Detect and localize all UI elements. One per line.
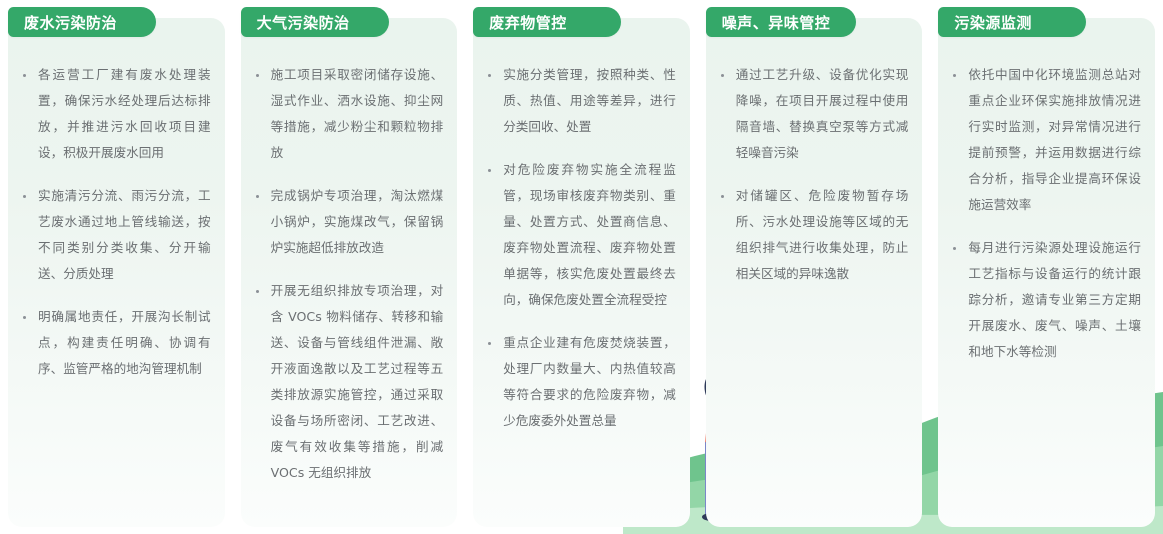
card-title: 废弃物管控 — [489, 12, 567, 33]
list-item: 各运营工厂建有废水处理装置，确保污水经处理后达标排放，并推进污水回收项目建设，积… — [16, 62, 211, 166]
list-item: 开展无组织排放专项治理，对含 VOCs 物料储存、转移和输送、设备与管线组件泄漏… — [249, 278, 444, 486]
list-item: 完成锅炉专项治理，淘汰燃煤小锅炉，实施煤改气，保留锅炉实施超低排放改造 — [249, 183, 444, 261]
card-wastewater: 各运营工厂建有废水处理装置，确保污水经处理后达标排放，并推进污水回收项目建设，积… — [0, 7, 233, 527]
card-header-tab: 污染源监测 — [938, 7, 1086, 37]
card-title: 污染源监测 — [954, 12, 1032, 33]
bullet-list: 通过工艺升级、设备优化实现降噪，在项目开展过程中使用隔音墙、替换真空泵等方式减轻… — [714, 62, 909, 287]
card-noise-odor: 通过工艺升级、设备优化实现降噪，在项目开展过程中使用隔音墙、替换真空泵等方式减轻… — [698, 7, 931, 527]
bullet-list: 各运营工厂建有废水处理装置，确保污水经处理后达标排放，并推进污水回收项目建设，积… — [16, 62, 211, 382]
list-item: 明确属地责任，开展沟长制试点，构建责任明确、协调有序、监管严格的地沟管理机制 — [16, 304, 211, 382]
card-body: 施工项目采取密闭储存设施、湿式作业、洒水设施、抑尘网等措施，减少粉尘和颗粒物排放… — [241, 18, 458, 527]
card-header-tab: 废弃物管控 — [473, 7, 621, 37]
list-item: 对储罐区、危险废物暂存场所、污水处理设施等区域的无组织排气进行收集处理，防止相关… — [714, 183, 909, 287]
card-header-tab: 废水污染防治 — [8, 7, 156, 37]
card-waste-control: 实施分类管理，按照种类、性质、热值、用途等差异，进行分类回收、处置 对危险废弃物… — [465, 7, 698, 527]
list-item: 施工项目采取密闭储存设施、湿式作业、洒水设施、抑尘网等措施，减少粉尘和颗粒物排放 — [249, 62, 444, 166]
list-item: 对危险废弃物实施全流程监管，现场审核废弃物类别、重量、处置方式、处置商信息、废弃… — [481, 157, 676, 313]
card-title: 噪声、异味管控 — [722, 12, 831, 33]
card-title: 大气污染防治 — [257, 12, 350, 33]
bullet-list: 施工项目采取密闭储存设施、湿式作业、洒水设施、抑尘网等措施，减少粉尘和颗粒物排放… — [249, 62, 444, 486]
card-body: 通过工艺升级、设备优化实现降噪，在项目开展过程中使用隔音墙、替换真空泵等方式减轻… — [706, 18, 923, 527]
card-pollution-source-monitoring: 依托中国中化环境监测总站对重点企业环保实施排放情况进行实时监测，对异常情况进行提… — [930, 7, 1163, 527]
card-list: 各运营工厂建有废水处理装置，确保污水经处理后达标排放，并推进污水回收项目建设，积… — [0, 0, 1163, 534]
card-header-tab: 大气污染防治 — [241, 7, 389, 37]
card-title: 废水污染防治 — [24, 12, 117, 33]
bullet-list: 依托中国中化环境监测总站对重点企业环保实施排放情况进行实时监测，对异常情况进行提… — [946, 62, 1141, 365]
list-item: 实施清污分流、雨污分流，工艺废水通过地上管线输送，按不同类别分类收集、分开输送、… — [16, 183, 211, 287]
card-body: 依托中国中化环境监测总站对重点企业环保实施排放情况进行实时监测，对异常情况进行提… — [938, 18, 1155, 527]
card-air-pollution: 施工项目采取密闭储存设施、湿式作业、洒水设施、抑尘网等措施，减少粉尘和颗粒物排放… — [233, 7, 466, 527]
card-header-tab: 噪声、异味管控 — [706, 7, 857, 37]
card-body: 实施分类管理，按照种类、性质、热值、用途等差异，进行分类回收、处置 对危险废弃物… — [473, 18, 690, 527]
list-item: 依托中国中化环境监测总站对重点企业环保实施排放情况进行实时监测，对异常情况进行提… — [946, 62, 1141, 218]
page-root: 各运营工厂建有废水处理装置，确保污水经处理后达标排放，并推进污水回收项目建设，积… — [0, 0, 1163, 534]
card-body: 各运营工厂建有废水处理装置，确保污水经处理后达标排放，并推进污水回收项目建设，积… — [8, 18, 225, 527]
list-item: 实施分类管理，按照种类、性质、热值、用途等差异，进行分类回收、处置 — [481, 62, 676, 140]
bullet-list: 实施分类管理，按照种类、性质、热值、用途等差异，进行分类回收、处置 对危险废弃物… — [481, 62, 676, 434]
list-item: 重点企业建有危废焚烧装置，处理厂内数量大、内热值较高等符合要求的危险废弃物，减少… — [481, 330, 676, 434]
list-item: 每月进行污染源处理设施运行工艺指标与设备运行的统计跟踪分析，邀请专业第三方定期开… — [946, 235, 1141, 365]
list-item: 通过工艺升级、设备优化实现降噪，在项目开展过程中使用隔音墙、替换真空泵等方式减轻… — [714, 62, 909, 166]
